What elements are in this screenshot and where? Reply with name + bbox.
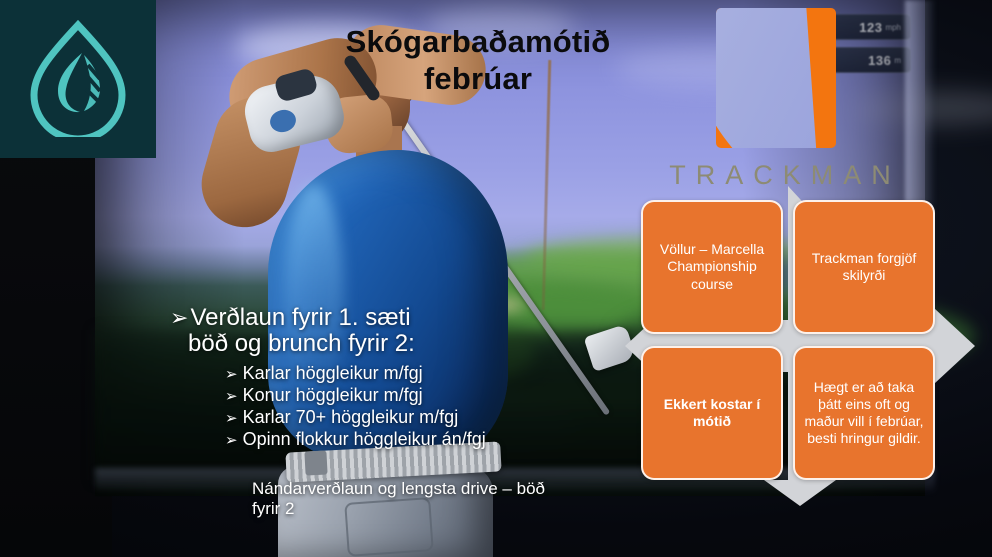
brand-logo-tile <box>0 0 156 158</box>
bullet-lead-line-2: böð og brunch fyrir 2: <box>188 331 590 357</box>
bullet-footer-line-1: Nándarverðlaun og lengsta drive – böð <box>252 479 602 499</box>
bullet-lead-line-1: ➢Verðlaun fyrir 1. sæti <box>170 305 590 331</box>
hud-unit: mph <box>885 23 901 32</box>
list-item-label: Opinn flokkur höggleikur án/fgj <box>243 429 486 449</box>
list-item: ➢Konur höggleikur m/fgj <box>225 385 590 407</box>
arrow-bullet-icon: ➢ <box>225 410 238 427</box>
bullet-footer-line-2: fyrir 2 <box>252 499 602 519</box>
bullet-lead: ➢Verðlaun fyrir 1. sæti böð og brunch fy… <box>170 305 590 357</box>
card-free-entry-label: Ekkert kostar í mótið <box>652 396 772 430</box>
leaf-drop-icon <box>24 17 132 142</box>
bullet-footer: Nándarverðlaun og lengsta drive – böð fy… <box>252 479 602 520</box>
arrow-bullet-icon: ➢ <box>170 305 188 330</box>
card-course[interactable]: Völlur – Marcella Championship course <box>641 200 783 334</box>
bullet-lead-text-1: Verðlaun fyrir 1. sæti <box>190 304 410 331</box>
prize-bullet-list: ➢Verðlaun fyrir 1. sæti böð og brunch fy… <box>170 305 590 451</box>
trackman-swoosh <box>716 8 819 148</box>
belt-buckle <box>304 450 327 475</box>
card-handicap-label: Trackman forgjöf skilyrði <box>804 250 924 284</box>
bullet-sub-list: ➢Karlar höggleikur m/fgj ➢Konur höggleik… <box>225 363 590 451</box>
card-repeat-entry[interactable]: Hægt er að taka þátt eins oft og maður v… <box>793 346 935 480</box>
list-item-label: Karlar 70+ höggleikur m/fgj <box>243 407 459 427</box>
card-handicap[interactable]: Trackman forgjöf skilyrði <box>793 200 935 334</box>
arrow-bullet-icon: ➢ <box>225 388 238 405</box>
title-line-1: Skógarbaðamótið <box>250 24 706 61</box>
list-item: ➢Opinn flokkur höggleikur án/fgj <box>225 429 590 451</box>
hud-value: 123 <box>859 20 882 35</box>
list-item: ➢Karlar höggleikur m/fgj <box>225 363 590 385</box>
card-free-entry[interactable]: Ekkert kostar í mótið <box>641 346 783 480</box>
card-repeat-entry-label: Hægt er að taka þátt eins oft og maður v… <box>804 379 924 447</box>
list-item: ➢Karlar 70+ höggleikur m/fgj <box>225 407 590 429</box>
trackman-logo-icon <box>716 8 836 148</box>
hud-value: 136 <box>868 53 891 68</box>
card-course-label: Völlur – Marcella Championship course <box>652 241 772 292</box>
page-title: Skógarbaðamótið febrúar <box>250 24 706 97</box>
list-item-label: Karlar höggleikur m/fgj <box>243 363 423 383</box>
list-item-label: Konur höggleikur m/fgj <box>243 385 423 405</box>
smartart-cards: Völlur – Marcella Championship course Tr… <box>625 186 975 506</box>
smartart-matrix: Völlur – Marcella Championship course Tr… <box>625 186 975 506</box>
presentation-slide: 123 mph 136 m <box>0 0 992 557</box>
hud-unit: m <box>894 56 901 65</box>
arrow-bullet-icon: ➢ <box>225 432 238 449</box>
arrow-bullet-icon: ➢ <box>225 366 238 383</box>
title-line-2: febrúar <box>250 61 706 98</box>
